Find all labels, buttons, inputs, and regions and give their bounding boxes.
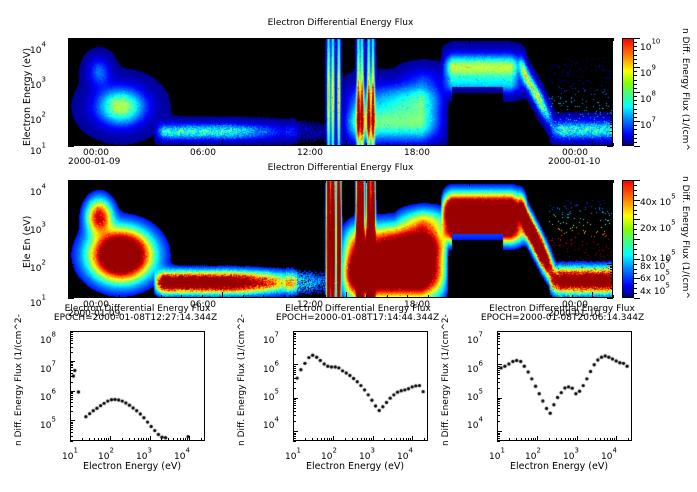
axis-tick xyxy=(70,343,73,344)
axis-tick xyxy=(99,180,100,186)
axis-tick xyxy=(610,137,613,138)
axis-tick xyxy=(68,54,71,55)
axis-tick xyxy=(497,374,500,375)
axis-tick xyxy=(68,127,71,128)
axis-tick xyxy=(222,292,223,298)
axis-tick xyxy=(68,274,71,275)
axis-tick xyxy=(68,266,71,267)
axis-tick xyxy=(293,354,296,355)
colorbar-tick xyxy=(634,142,637,143)
axis-tick xyxy=(70,362,73,363)
axis-tick xyxy=(610,233,613,234)
axis-tick xyxy=(68,146,74,147)
axis-tick xyxy=(68,115,74,116)
colorbar-tick xyxy=(634,224,637,225)
axis-tick xyxy=(68,65,71,66)
axis-tick xyxy=(497,399,500,400)
axis-tick xyxy=(70,420,75,421)
axis-tick xyxy=(616,436,617,441)
spec1-xtick-1: 06:00 xyxy=(190,148,216,158)
spec-right-xtick-2: 103 xyxy=(563,444,579,463)
spec-mid-epoch: EPOCH=2000-01-08T17:14:44.344Z xyxy=(250,313,465,323)
axis-tick xyxy=(610,69,613,70)
axis-tick xyxy=(525,438,526,441)
axis-tick xyxy=(119,180,120,183)
spec-left-ylabel: n Diff. Energy Flux (1/(cm^2- xyxy=(14,314,24,446)
axis-tick xyxy=(70,376,73,377)
spec-mid-plot-area xyxy=(293,331,428,441)
spec2-title: Electron Differential Energy Flux xyxy=(68,163,613,173)
axis-tick xyxy=(610,214,613,215)
axis-tick xyxy=(327,438,328,441)
colorbar-tick xyxy=(634,239,640,240)
axis-tick xyxy=(595,438,596,441)
axis-tick xyxy=(68,272,71,273)
axis-tick xyxy=(143,438,144,441)
spec2-colorbar xyxy=(622,180,634,298)
axis-tick xyxy=(497,348,500,349)
axis-tick xyxy=(293,436,296,437)
colorbar-tick xyxy=(634,229,637,230)
axis-tick xyxy=(521,438,522,441)
axis-tick xyxy=(99,292,100,298)
axis-tick xyxy=(610,89,613,90)
axis-tick xyxy=(610,278,613,279)
colorbar-tick xyxy=(634,138,637,139)
spec-left-xtick-3: 104 xyxy=(174,444,190,463)
axis-tick xyxy=(293,421,296,422)
axis-tick xyxy=(68,58,71,59)
axis-tick xyxy=(68,62,71,63)
axis-tick xyxy=(610,240,613,241)
axis-tick xyxy=(68,230,74,231)
axis-tick xyxy=(497,415,500,416)
axis-tick xyxy=(497,382,500,383)
axis-tick xyxy=(68,210,71,211)
axis-tick xyxy=(183,438,184,441)
axis-tick xyxy=(407,180,408,183)
axis-tick xyxy=(68,278,71,279)
axis-tick xyxy=(68,38,71,39)
axis-tick xyxy=(373,436,374,441)
axis-tick xyxy=(293,366,296,367)
axis-tick xyxy=(610,106,613,107)
axis-tick xyxy=(263,295,264,298)
colorbar-tick xyxy=(634,273,637,274)
axis-tick xyxy=(150,436,151,441)
axis-tick xyxy=(610,244,613,245)
axis-tick xyxy=(510,295,511,298)
axis-tick xyxy=(610,87,613,88)
axis-tick xyxy=(610,266,613,267)
axis-tick xyxy=(572,38,573,41)
axis-tick xyxy=(68,91,71,92)
axis-tick xyxy=(141,438,142,441)
axis-tick xyxy=(68,96,71,97)
axis-tick xyxy=(70,422,73,423)
axis-tick xyxy=(613,180,614,183)
axis-tick xyxy=(293,368,296,369)
spec-mid-ytick-1: 106 xyxy=(263,357,279,376)
axis-tick xyxy=(366,38,367,41)
axis-tick xyxy=(610,269,613,270)
spec-mid-ytick-0: 107 xyxy=(263,328,279,347)
axis-tick xyxy=(70,395,73,396)
colorbar-tick xyxy=(634,100,637,101)
axis-tick xyxy=(497,372,500,373)
axis-tick xyxy=(68,235,71,236)
axis-tick xyxy=(497,368,500,369)
axis-tick xyxy=(68,267,71,268)
axis-tick xyxy=(263,38,264,41)
axis-tick xyxy=(613,143,614,146)
axis-tick xyxy=(610,44,613,45)
axis-tick xyxy=(610,254,613,255)
axis-tick xyxy=(610,56,613,57)
axis-tick xyxy=(497,364,502,365)
axis-tick xyxy=(497,421,500,422)
colorbar-tick xyxy=(634,254,637,255)
axis-tick xyxy=(406,438,407,441)
axis-tick xyxy=(317,438,318,441)
axis-tick xyxy=(531,38,532,41)
axis-tick xyxy=(312,438,313,441)
axis-tick xyxy=(140,295,141,298)
axis-tick xyxy=(293,405,296,406)
axis-tick xyxy=(570,438,571,441)
axis-tick xyxy=(369,438,370,441)
colorbar-tick xyxy=(634,134,637,135)
axis-tick xyxy=(551,143,552,146)
axis-tick xyxy=(68,240,71,241)
axis-tick xyxy=(391,438,392,441)
axis-tick xyxy=(387,295,388,298)
axis-tick xyxy=(305,438,306,441)
axis-tick xyxy=(610,267,613,268)
axis-tick xyxy=(68,124,71,125)
axis-tick xyxy=(533,438,534,441)
axis-tick xyxy=(325,143,326,146)
axis-tick xyxy=(490,295,491,298)
axis-tick xyxy=(243,38,244,41)
axis-tick xyxy=(325,180,326,183)
axis-tick xyxy=(497,398,502,399)
axis-tick xyxy=(68,60,71,61)
axis-tick xyxy=(68,282,71,283)
spec2-ylabel: Ele En (eV) xyxy=(22,216,33,268)
spec-mid-ytick-3: 104 xyxy=(263,413,279,432)
axis-tick xyxy=(573,438,574,441)
axis-tick xyxy=(497,354,500,355)
axis-tick xyxy=(592,140,593,146)
axis-tick xyxy=(610,198,613,199)
axis-tick xyxy=(610,204,613,205)
spec-right-ytick-3: 104 xyxy=(467,413,483,432)
axis-tick xyxy=(78,295,79,298)
axis-tick xyxy=(293,334,296,335)
axis-tick xyxy=(185,438,186,441)
axis-tick xyxy=(613,38,614,41)
axis-tick xyxy=(284,38,285,41)
axis-tick xyxy=(110,436,111,441)
spec1-cbar-tick-2: 108 xyxy=(640,87,656,106)
axis-tick xyxy=(70,382,73,383)
axis-tick xyxy=(70,332,73,333)
axis-tick xyxy=(293,333,296,334)
axis-tick xyxy=(68,53,74,54)
axis-tick xyxy=(604,438,605,441)
axis-tick xyxy=(161,295,162,298)
axis-tick xyxy=(293,331,298,332)
axis-tick xyxy=(70,361,75,362)
colorbar-tick xyxy=(634,129,637,130)
axis-tick xyxy=(497,401,500,402)
axis-tick xyxy=(607,230,613,231)
axis-tick xyxy=(68,248,71,249)
axis-tick xyxy=(610,65,613,66)
spec-left-ytick-3: 105 xyxy=(40,413,56,432)
axis-tick xyxy=(610,282,613,283)
axis-tick xyxy=(610,75,613,76)
spec-left-ytick-1: 107 xyxy=(40,357,56,376)
axis-tick xyxy=(610,91,613,92)
axis-tick xyxy=(531,143,532,146)
axis-tick xyxy=(293,433,296,434)
axis-tick xyxy=(68,269,71,270)
axis-tick xyxy=(352,438,353,441)
axis-tick xyxy=(607,146,613,147)
axis-tick xyxy=(94,438,95,441)
axis-tick xyxy=(68,238,71,239)
axis-tick xyxy=(202,180,203,183)
axis-tick xyxy=(293,438,296,439)
axis-tick xyxy=(497,336,500,337)
axis-tick xyxy=(469,180,470,186)
axis-tick xyxy=(106,438,107,441)
axis-tick xyxy=(610,438,611,441)
axis-tick xyxy=(70,347,73,348)
spec-mid-xtick-0: 101 xyxy=(285,444,301,463)
axis-tick xyxy=(490,143,491,146)
colorbar-tick xyxy=(634,109,637,110)
axis-tick xyxy=(610,58,613,59)
axis-tick xyxy=(70,397,73,398)
axis-tick xyxy=(68,106,71,107)
axis-tick xyxy=(293,431,298,432)
axis-tick xyxy=(68,122,71,123)
axis-tick xyxy=(293,348,296,349)
colorbar-tick xyxy=(634,234,637,235)
axis-tick xyxy=(168,438,169,441)
axis-tick xyxy=(293,411,296,412)
axis-tick xyxy=(321,438,322,441)
axis-tick xyxy=(531,438,532,441)
axis-tick xyxy=(305,180,306,183)
axis-tick xyxy=(387,143,388,146)
axis-tick xyxy=(607,115,613,116)
axis-tick xyxy=(575,438,576,441)
axis-tick xyxy=(610,131,613,132)
axis-tick xyxy=(407,143,408,146)
axis-tick xyxy=(346,38,347,44)
axis-tick xyxy=(98,438,99,441)
axis-tick xyxy=(610,100,613,101)
axis-tick xyxy=(366,180,367,183)
axis-tick xyxy=(490,38,491,41)
axis-tick xyxy=(384,438,385,441)
axis-tick xyxy=(68,89,71,90)
axis-tick xyxy=(449,143,450,146)
spec2-canvas xyxy=(69,181,612,297)
axis-tick xyxy=(400,438,401,441)
axis-tick xyxy=(70,338,73,339)
colorbar-tick xyxy=(634,278,640,279)
axis-tick xyxy=(68,75,71,76)
axis-tick xyxy=(412,436,413,441)
axis-tick xyxy=(129,438,130,441)
axis-tick xyxy=(509,438,510,441)
axis-tick xyxy=(305,295,306,298)
colorbar-tick xyxy=(634,59,637,60)
axis-tick xyxy=(68,186,71,187)
colorbar-tick xyxy=(634,205,637,206)
colorbar-tick xyxy=(634,42,637,43)
axis-tick xyxy=(572,143,573,146)
colorbar-tick xyxy=(634,71,637,72)
axis-tick xyxy=(70,392,73,393)
spec-right-epoch: EPOCH=2000-01-08T20:06:14.344Z xyxy=(455,313,670,323)
axis-tick xyxy=(329,438,330,441)
colorbar-tick xyxy=(634,283,637,284)
colorbar-tick xyxy=(634,264,637,265)
axis-tick xyxy=(497,333,500,334)
axis-tick xyxy=(140,143,141,146)
axis-tick xyxy=(610,206,613,207)
axis-tick xyxy=(68,220,71,221)
axis-tick xyxy=(161,438,162,441)
spec-right-xtick-3: 104 xyxy=(601,444,617,463)
axis-tick xyxy=(180,438,181,441)
axis-tick xyxy=(68,298,74,299)
colorbar-tick xyxy=(634,63,637,64)
axis-tick xyxy=(387,180,388,183)
axis-tick xyxy=(428,38,429,41)
axis-tick xyxy=(222,140,223,146)
axis-tick xyxy=(173,438,174,441)
axis-tick xyxy=(70,425,73,426)
colorbar-tick xyxy=(634,269,637,270)
axis-tick xyxy=(70,436,73,437)
axis-tick xyxy=(497,431,502,432)
axis-tick xyxy=(610,62,613,63)
axis-tick xyxy=(68,206,71,207)
axis-tick xyxy=(371,438,372,441)
axis-tick xyxy=(407,38,408,41)
axis-tick xyxy=(528,438,529,441)
axis-tick xyxy=(101,438,102,441)
axis-tick xyxy=(243,143,244,146)
axis-tick xyxy=(357,438,358,441)
axis-tick xyxy=(407,295,408,298)
axis-tick xyxy=(607,438,608,441)
axis-tick xyxy=(78,180,79,183)
spec-left-epoch: EPOCH=2000-01-08T12:27:14.344Z xyxy=(28,313,243,323)
axis-tick xyxy=(610,288,613,289)
axis-tick xyxy=(293,374,296,375)
axis-tick xyxy=(610,248,613,249)
axis-tick xyxy=(333,436,334,441)
spec2-cbar-tick-1: 20x 105 xyxy=(640,216,676,235)
axis-tick xyxy=(70,427,73,428)
axis-tick xyxy=(181,38,182,41)
axis-tick xyxy=(469,38,470,44)
axis-tick xyxy=(138,438,139,441)
axis-tick xyxy=(70,423,73,424)
colorbar-tick xyxy=(634,293,637,294)
axis-tick xyxy=(610,235,613,236)
spec2-colorbar-label: n Diff. Energy Flux (1/(cm^ xyxy=(680,176,690,299)
axis-tick xyxy=(161,143,162,146)
axis-tick xyxy=(68,200,71,201)
axis-tick xyxy=(89,438,90,441)
axis-tick xyxy=(366,295,367,298)
axis-tick xyxy=(607,264,613,265)
axis-tick xyxy=(146,438,147,441)
axis-tick xyxy=(78,38,79,41)
axis-tick xyxy=(222,180,223,186)
axis-tick xyxy=(549,438,550,441)
axis-tick xyxy=(70,406,73,407)
spec-right-ytick-2: 105 xyxy=(467,385,483,404)
axis-tick xyxy=(161,180,162,183)
axis-tick xyxy=(610,60,613,61)
axis-tick xyxy=(68,84,74,85)
axis-tick xyxy=(293,341,296,342)
axis-tick xyxy=(181,295,182,298)
axis-tick xyxy=(293,378,296,379)
axis-tick xyxy=(293,441,296,442)
axis-tick xyxy=(610,272,613,273)
axis-tick xyxy=(68,244,71,245)
colorbar-tick xyxy=(634,219,640,220)
axis-tick xyxy=(577,436,578,441)
colorbar-tick xyxy=(634,75,637,76)
axis-tick xyxy=(68,85,71,86)
spec-left-xtick-2: 103 xyxy=(136,444,152,463)
axis-tick xyxy=(68,232,71,233)
axis-tick xyxy=(497,411,500,412)
axis-tick xyxy=(610,201,613,202)
axis-tick xyxy=(70,432,73,433)
axis-tick xyxy=(119,295,120,298)
axis-tick xyxy=(610,238,613,239)
colorbar-tick xyxy=(634,46,637,47)
axis-tick xyxy=(610,54,613,55)
axis-tick xyxy=(293,399,296,400)
axis-tick xyxy=(222,38,223,44)
axis-tick xyxy=(361,438,362,441)
axis-tick xyxy=(325,295,326,298)
axis-tick xyxy=(366,143,367,146)
colorbar-tick xyxy=(634,96,637,97)
colorbar-tick xyxy=(634,214,637,215)
axis-tick xyxy=(497,341,500,342)
spec-left-xtick-1: 102 xyxy=(98,444,114,463)
axis-tick xyxy=(551,295,552,298)
axis-tick xyxy=(607,298,613,299)
axis-tick xyxy=(70,334,73,335)
spec2-cbar-tick-0: 40x 105 xyxy=(640,190,676,209)
